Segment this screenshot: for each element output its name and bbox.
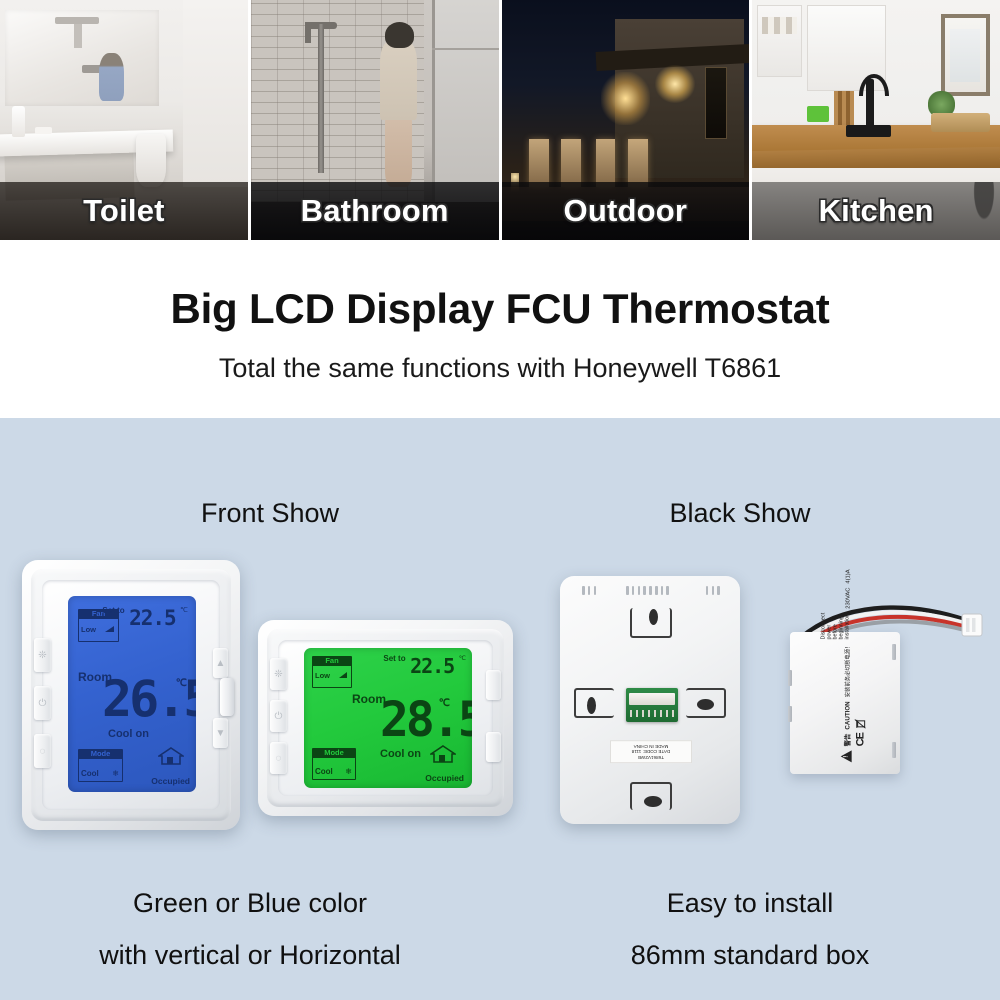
room-photo-strip: Toilet Bathroom Outdoor: [0, 0, 1000, 240]
photo-cell-bathroom: Bathroom: [251, 0, 502, 240]
fan-box: Fan Low: [312, 656, 352, 688]
label-model: T6861V2WB: [614, 754, 688, 760]
room-unit: ℃: [439, 698, 450, 709]
thermostat-blue-vertical[interactable]: ❊ ⏻ ◌ ▲ ▼ Fan Low Set to 22.5 ℃: [22, 560, 240, 830]
caution-cn: 警告: [842, 734, 851, 747]
caption-left: Green or Blue color with vertical or Hor…: [0, 877, 500, 982]
mode-value: Cool: [315, 767, 333, 776]
caption-left-line2: with vertical or Horizontal: [0, 929, 500, 982]
caution-en: CAUTION: [844, 701, 851, 729]
caution-cn-text: 安装前务必切断电源！: [843, 643, 851, 697]
lcd-screen-blue: Fan Low Set to 22.5 ℃ Room 26.5 ℃ Cool o…: [68, 596, 196, 792]
module-tab-l2: [788, 706, 792, 722]
page-title: Big LCD Display FCU Thermostat: [0, 285, 1000, 333]
caution-en-text: Disconnect power before beginning instal…: [822, 613, 852, 640]
button-fan[interactable]: ❊: [34, 638, 51, 672]
vent-slots-left: [582, 586, 596, 595]
occupied-house-icon: [158, 747, 184, 770]
room-unit: ℃: [176, 678, 187, 689]
showcase-headings: Front Show Black Show: [0, 498, 1000, 529]
thermostat-back-plate[interactable]: T6861V2WB DATE CODE: 1118 MADE IN CHINA: [560, 576, 740, 824]
terminal-block-pcb: [626, 688, 678, 722]
fan-bars-icon: [338, 671, 349, 679]
caption-right: Easy to install 86mm standard box: [500, 877, 1000, 982]
vent-slots-center: [626, 586, 669, 595]
module-tab-br: [892, 742, 896, 758]
photo-caption-toilet: Toilet: [0, 182, 248, 240]
thermostat-green-horizontal[interactable]: ❊ ⏻ ◌ Fan Low Set to 22.5 ℃ Room 28.5: [258, 620, 513, 816]
button-down[interactable]: ▼: [213, 718, 228, 748]
bottom-captions: Green or Blue color with vertical or Hor…: [0, 877, 1000, 982]
slide-switch[interactable]: [220, 678, 234, 716]
mount-slot-top: [630, 608, 672, 638]
setpoint-value: 22.5: [129, 606, 176, 630]
button-up[interactable]: [486, 670, 501, 700]
heading-block: Big LCD Display FCU Thermostat Total the…: [0, 240, 1000, 418]
label-origin: MADE IN CHINA: [614, 743, 688, 749]
photo-cell-kitchen: Kitchen: [752, 0, 1000, 240]
occupancy-label: Occupied: [151, 776, 190, 786]
setpoint-value: 22.5: [410, 654, 454, 678]
mode-value: Cool: [81, 769, 99, 778]
weee-bin-icon: [855, 719, 866, 728]
product-showcase: Front Show Black Show ❊ ⏻ ◌ ▲ ▼ Fan Low: [0, 418, 1000, 1000]
button-power[interactable]: ⏻: [270, 700, 287, 732]
warning-triangle-icon: [840, 750, 851, 762]
module-tab-l1: [788, 670, 792, 686]
photo-caption-outdoor: Outdoor: [502, 182, 750, 240]
status-text: Cool on: [380, 748, 421, 760]
setpoint-prefix: Set to: [102, 606, 124, 615]
lcd-screen-green: Fan Low Set to 22.5 ℃ Room 28.5 ℃ Cool o…: [304, 648, 472, 788]
snowflake-icon: ❄: [112, 769, 119, 778]
button-down[interactable]: [486, 732, 501, 762]
occupied-house-icon: [430, 745, 456, 768]
button-mode[interactable]: ◌: [34, 734, 51, 768]
heading-front-show: Front Show: [0, 498, 500, 529]
heading-black-show: Black Show: [500, 498, 1000, 529]
caption-right-line1: Easy to install: [500, 877, 1000, 930]
setpoint-group: Set to 22.5 ℃: [383, 654, 466, 678]
setpoint-group: Set to 22.5 ℃: [102, 606, 188, 630]
caption-right-line2: 86mm standard box: [500, 929, 1000, 982]
setpoint-unit: ℃: [180, 607, 188, 614]
room-temperature: 28.5: [380, 696, 472, 744]
fan-box-header: Fan: [313, 657, 351, 665]
wiring-module-body[interactable]: 警告 CAUTION 安装前务必切断电源！ Disconnect power b…: [790, 632, 900, 774]
wiring-module-group: 警告 CAUTION 安装前务必切断电源！ Disconnect power b…: [788, 596, 988, 806]
button-power[interactable]: ⏻: [34, 686, 51, 720]
photo-caption-kitchen: Kitchen: [752, 182, 1000, 240]
rating-current: 4(1)A: [845, 569, 851, 583]
fan-speed-value: Low: [81, 625, 96, 634]
rating-voltage: 230VAC: [845, 588, 851, 609]
setpoint-unit: ℃: [459, 655, 466, 662]
snowflake-icon: ❄: [345, 767, 352, 776]
fan-speed-value: Low: [315, 671, 330, 680]
photo-caption-bathroom: Bathroom: [251, 182, 499, 240]
ce-mark-icon: CE: [854, 733, 866, 746]
page-subtitle: Total the same functions with Honeywell …: [0, 353, 1000, 384]
label-date-code: DATE CODE: 1118: [614, 749, 688, 755]
occupancy-label: Occupied: [425, 773, 464, 783]
mount-slot-left: [574, 688, 614, 718]
mode-box: Mode Cool ❄: [312, 748, 356, 780]
caption-left-line1: Green or Blue color: [0, 877, 500, 930]
button-fan[interactable]: ❊: [270, 658, 287, 690]
vent-slots-right: [706, 586, 720, 595]
button-mode[interactable]: ◌: [270, 742, 287, 774]
module-tab-tl: [892, 644, 896, 660]
status-text: Cool on: [108, 728, 149, 740]
photo-cell-toilet: Toilet: [0, 0, 251, 240]
photo-cell-outdoor: Outdoor: [502, 0, 753, 240]
button-up[interactable]: ▲: [213, 648, 228, 678]
caution-label: 警告 CAUTION 安装前务必切断电源！ Disconnect power b…: [822, 642, 867, 762]
product-back-label: T6861V2WB DATE CODE: 1118 MADE IN CHINA: [610, 740, 692, 763]
mount-slot-bottom: [630, 782, 672, 810]
mount-slot-right: [686, 688, 726, 718]
setpoint-prefix: Set to: [383, 654, 405, 663]
mode-box-header: Mode: [79, 750, 122, 758]
mode-box-header: Mode: [313, 749, 355, 757]
mode-box: Mode Cool ❄: [78, 749, 123, 782]
